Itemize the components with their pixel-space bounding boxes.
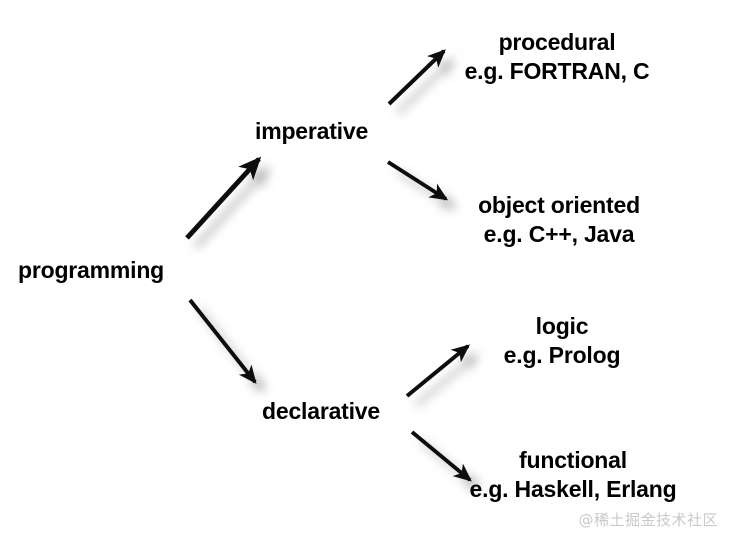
node-logic-label: logic (536, 313, 589, 339)
node-object-oriented: object oriented e.g. C++, Java (478, 191, 640, 249)
node-imperative: imperative (255, 117, 368, 146)
watermark: @稀土掘金技术社区 (578, 509, 718, 530)
node-functional: functional e.g. Haskell, Erlang (470, 446, 677, 504)
node-procedural-detail: e.g. FORTRAN, C (465, 57, 650, 86)
node-object-oriented-detail: e.g. C++, Java (478, 220, 640, 249)
node-object-oriented-label: object oriented (478, 192, 640, 218)
node-declarative: declarative (262, 397, 380, 426)
node-imperative-label: imperative (255, 118, 368, 144)
node-procedural: procedural e.g. FORTRAN, C (465, 28, 650, 86)
node-programming: programming (18, 256, 164, 285)
node-programming-label: programming (18, 257, 164, 283)
edge-programming-imperative (187, 159, 259, 238)
node-functional-label: functional (519, 447, 627, 473)
edge-imperative-procedural (389, 51, 444, 104)
node-logic-detail: e.g. Prolog (504, 341, 621, 370)
node-procedural-label: procedural (499, 29, 616, 55)
node-declarative-label: declarative (262, 398, 380, 424)
diagram-canvas: programming imperative declarative proce… (0, 0, 730, 536)
edge-declarative-functional (412, 432, 470, 480)
edge-programming-declarative (190, 300, 255, 382)
node-logic: logic e.g. Prolog (504, 312, 621, 370)
edge-imperative-object-oriented (388, 162, 446, 199)
edge-declarative-logic (407, 346, 468, 396)
node-functional-detail: e.g. Haskell, Erlang (470, 475, 677, 504)
